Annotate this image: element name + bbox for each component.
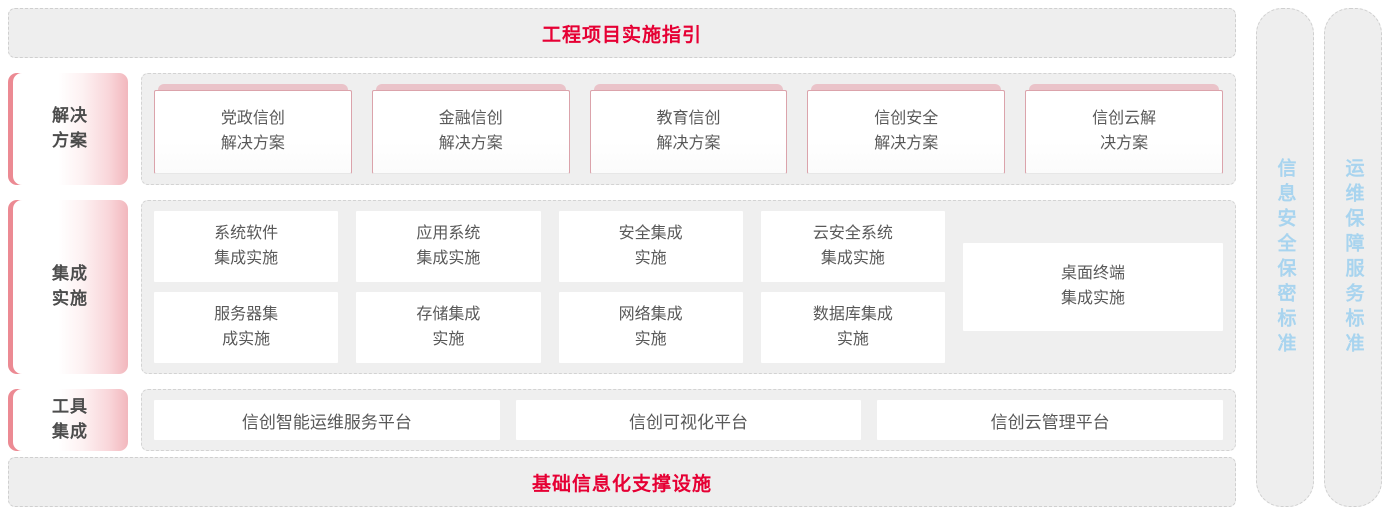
card-label-line2: 解决方案 xyxy=(656,135,720,152)
solution-card[interactable]: 信创安全 解决方案 xyxy=(807,84,1005,174)
card-label: 信创智能运维服务平台 xyxy=(242,408,412,433)
row-label-solutions-line1: 解决 xyxy=(52,106,88,125)
integration-card[interactable]: 网络集成 实施 xyxy=(559,292,743,363)
card-label-line2: 集成实施 xyxy=(1061,290,1125,307)
integration-card[interactable]: 存储集成 实施 xyxy=(356,292,540,363)
card-label: 信创安全 解决方案 xyxy=(874,107,938,157)
integration-card[interactable]: 数据库集成 实施 xyxy=(761,292,945,363)
card-label-line1: 系统软件 xyxy=(214,225,278,242)
card-label: 金融信创 解决方案 xyxy=(439,107,503,157)
card-label-line1: 应用系统 xyxy=(416,225,480,242)
card-label-line2: 实施 xyxy=(432,331,464,348)
row-label-solutions-line2: 方案 xyxy=(52,131,88,150)
card-label: 教育信创 解决方案 xyxy=(656,107,720,157)
row-integration: 集成 实施 系统软件 集成实施 xyxy=(8,200,1236,374)
integration-card[interactable]: 云安全系统 集成实施 xyxy=(761,211,945,282)
integration-side-slot: 桌面终端 集成实施 xyxy=(963,211,1223,363)
card-label: 党政信创 解决方案 xyxy=(221,107,285,157)
card-label-line1: 存储集成 xyxy=(416,306,480,323)
card-label: 存储集成 实施 xyxy=(416,303,480,353)
integration-card[interactable]: 服务器集 成实施 xyxy=(154,292,338,363)
card-label-line2: 集成实施 xyxy=(214,250,278,267)
row-label-tools[interactable]: 工具 集成 xyxy=(8,389,128,451)
row-label-tools-line2: 集成 xyxy=(52,422,88,441)
card-body: 教育信创 解决方案 xyxy=(590,90,788,174)
card-label-line2: 集成实施 xyxy=(416,250,480,267)
card-label-line1: 安全集成 xyxy=(619,225,683,242)
card-label: 系统软件 集成实施 xyxy=(214,222,278,272)
row-label-tools-line1: 工具 xyxy=(52,397,88,416)
side-panel-ops-standard-label: 运维保障服务标准 xyxy=(1344,158,1363,358)
card-label: 信创云管理平台 xyxy=(991,408,1110,433)
row-label-integration-line2: 实施 xyxy=(52,289,88,308)
card-label: 应用系统 集成实施 xyxy=(416,222,480,272)
card-label-line2: 实施 xyxy=(635,331,667,348)
tool-card[interactable]: 信创智能运维服务平台 xyxy=(154,400,500,440)
integration-card-grid: 系统软件 集成实施 应用系统 集成实施 安全集成 xyxy=(154,211,945,363)
card-label-line2: 实施 xyxy=(635,250,667,267)
integration-wrap: 系统软件 集成实施 应用系统 集成实施 安全集成 xyxy=(154,211,1223,363)
card-label-line1: 云安全系统 xyxy=(813,225,893,242)
solution-card[interactable]: 金融信创 解决方案 xyxy=(372,84,570,174)
card-label-line1: 桌面终端 xyxy=(1061,265,1125,282)
card-label-line2: 集成实施 xyxy=(821,250,885,267)
integration-card-desktop-terminal[interactable]: 桌面终端 集成实施 xyxy=(963,243,1223,331)
card-label-line1: 数据库集成 xyxy=(813,306,893,323)
card-label: 服务器集 成实施 xyxy=(214,303,278,353)
row-label-solutions[interactable]: 解决 方案 xyxy=(8,73,128,185)
card-label: 云安全系统 集成实施 xyxy=(813,222,893,272)
row-tools: 工具 集成 信创智能运维服务平台 信创可视化平台 信创云管理平台 xyxy=(8,389,1236,451)
page-title: 工程项目实施指引 xyxy=(542,20,702,47)
tool-card-grid: 信创智能运维服务平台 信创可视化平台 信创云管理平台 xyxy=(154,400,1223,440)
card-label: 数据库集成 实施 xyxy=(813,303,893,353)
tool-card[interactable]: 信创云管理平台 xyxy=(877,400,1223,440)
side-panel-security-standard[interactable]: 信息安全保密标准 xyxy=(1256,8,1314,507)
header-banner: 工程项目实施指引 xyxy=(8,8,1236,58)
integration-card[interactable]: 系统软件 集成实施 xyxy=(154,211,338,282)
solution-card[interactable]: 党政信创 解决方案 xyxy=(154,84,352,174)
row-label-integration-text: 集成 实施 xyxy=(48,262,88,311)
solution-card[interactable]: 教育信创 解决方案 xyxy=(590,84,788,174)
footer-title: 基础信息化支撑设施 xyxy=(532,469,712,496)
card-body: 党政信创 解决方案 xyxy=(154,90,352,174)
integration-card[interactable]: 安全集成 实施 xyxy=(559,211,743,282)
tool-card[interactable]: 信创可视化平台 xyxy=(516,400,862,440)
card-body: 金融信创 解决方案 xyxy=(372,90,570,174)
card-label-line2: 成实施 xyxy=(222,331,270,348)
solution-card-grid: 党政信创 解决方案 金融信创 解决方案 xyxy=(154,84,1223,174)
card-label-line1: 信创安全 xyxy=(874,110,938,127)
row-panel-tools: 信创智能运维服务平台 信创可视化平台 信创云管理平台 xyxy=(141,389,1236,451)
card-label: 信创可视化平台 xyxy=(629,408,748,433)
implementation-guideline-diagram: 工程项目实施指引 解决 方案 党政信创 解决方案 xyxy=(0,0,1390,515)
card-label: 桌面终端 集成实施 xyxy=(1061,262,1125,312)
side-standards-column: 信息安全保密标准 运维保障服务标准 xyxy=(1236,8,1382,507)
row-label-solutions-text: 解决 方案 xyxy=(48,104,88,153)
card-label-line1: 信创云解 xyxy=(1092,110,1156,127)
row-label-tools-text: 工具 集成 xyxy=(48,395,88,444)
card-label-line1: 网络集成 xyxy=(619,306,683,323)
row-panel-solutions: 党政信创 解决方案 金融信创 解决方案 xyxy=(141,73,1236,185)
card-label-line2: 解决方案 xyxy=(221,135,285,152)
card-label-line1: 教育信创 xyxy=(656,110,720,127)
card-body: 信创云解 决方案 xyxy=(1025,90,1223,174)
card-label: 信创云解 决方案 xyxy=(1092,107,1156,157)
integration-card[interactable]: 应用系统 集成实施 xyxy=(356,211,540,282)
card-label: 网络集成 实施 xyxy=(619,303,683,353)
footer-banner: 基础信息化支撑设施 xyxy=(8,457,1236,507)
card-label-line2: 解决方案 xyxy=(439,135,503,152)
card-label-line1: 服务器集 xyxy=(214,306,278,323)
card-label-line2: 实施 xyxy=(837,331,869,348)
side-panel-ops-standard[interactable]: 运维保障服务标准 xyxy=(1324,8,1382,507)
side-panel-security-standard-label: 信息安全保密标准 xyxy=(1276,158,1295,358)
card-label: 安全集成 实施 xyxy=(619,222,683,272)
row-label-integration[interactable]: 集成 实施 xyxy=(8,200,128,374)
card-label-line2: 决方案 xyxy=(1100,135,1148,152)
card-label-line1: 金融信创 xyxy=(439,110,503,127)
solution-card[interactable]: 信创云解 决方案 xyxy=(1025,84,1223,174)
row-solutions: 解决 方案 党政信创 解决方案 xyxy=(8,73,1236,185)
row-label-integration-line1: 集成 xyxy=(52,264,88,283)
main-column: 工程项目实施指引 解决 方案 党政信创 解决方案 xyxy=(8,8,1236,507)
card-label-line1: 党政信创 xyxy=(221,110,285,127)
row-panel-integration: 系统软件 集成实施 应用系统 集成实施 安全集成 xyxy=(141,200,1236,374)
card-body: 信创安全 解决方案 xyxy=(807,90,1005,174)
card-label-line2: 解决方案 xyxy=(874,135,938,152)
